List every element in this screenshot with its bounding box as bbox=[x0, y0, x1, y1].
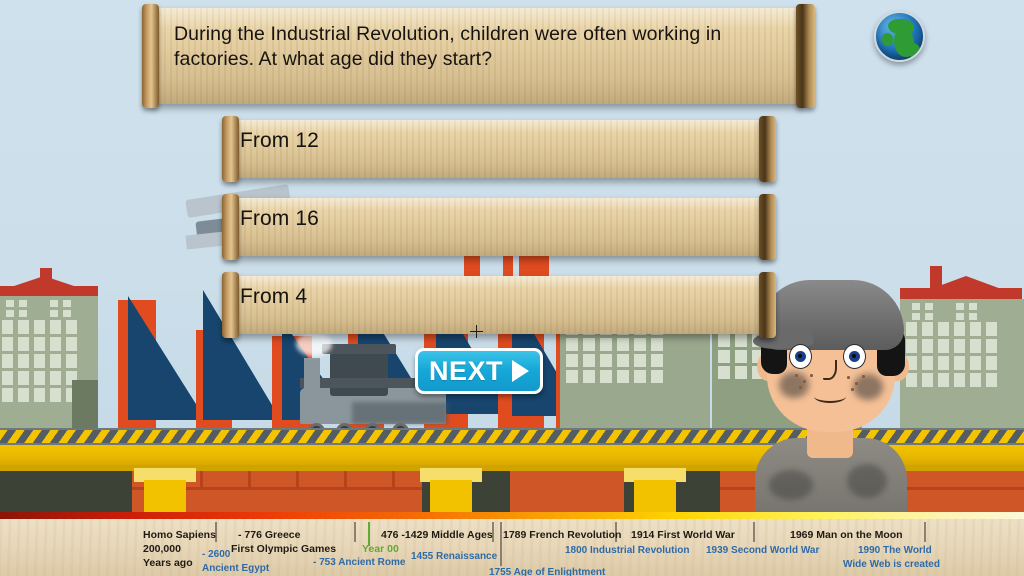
timeline-entry: 1939 Second World War bbox=[706, 545, 819, 556]
next-button[interactable]: NEXT bbox=[415, 348, 543, 394]
locomotive-shadow bbox=[352, 402, 448, 424]
house-attic-windows bbox=[6, 300, 27, 317]
scroll-cap-right bbox=[796, 4, 815, 108]
timeline-entry: 1755 Age of Enlightment bbox=[489, 567, 605, 576]
timeline-gradient-bar bbox=[0, 512, 1024, 519]
chimney bbox=[930, 266, 942, 288]
history-timeline: Homo Sapiens 200,000 Years ago - 2600 An… bbox=[0, 512, 1024, 576]
under-bridge-dark bbox=[0, 471, 132, 512]
answer-label: From 16 bbox=[240, 206, 319, 233]
answer-option-1[interactable]: From 12 bbox=[232, 120, 768, 178]
locomotive-stack bbox=[304, 358, 320, 390]
bridge-pillar bbox=[634, 480, 676, 512]
scroll-cap-left bbox=[222, 116, 239, 182]
shirt-smudge bbox=[769, 470, 813, 500]
timeline-tick bbox=[354, 522, 356, 542]
timeline-entry: 1914 First World War bbox=[631, 529, 735, 541]
timeline-entry: 200,000 bbox=[143, 543, 181, 555]
play-triangle-icon bbox=[512, 360, 529, 382]
factory-sawtooth-roof bbox=[128, 296, 206, 420]
house-attic-windows bbox=[956, 303, 977, 320]
scroll-cap-right bbox=[759, 272, 776, 338]
scroll-cap-left bbox=[142, 4, 159, 108]
under-bridge-brick bbox=[510, 471, 624, 512]
soot-smudge bbox=[779, 372, 809, 398]
timeline-tick bbox=[753, 522, 755, 542]
scroll-cap-left bbox=[222, 272, 239, 338]
timeline-entry: 1969 Man on the Moon bbox=[790, 529, 903, 541]
timeline-entry: Ancient Egypt bbox=[202, 563, 269, 574]
scroll-cap-right bbox=[759, 194, 776, 260]
locomotive-cab bbox=[330, 352, 388, 396]
question-scroll: During the Industrial Revolution, childr… bbox=[152, 8, 804, 104]
character-pupil bbox=[795, 351, 806, 362]
timeline-entry: - 753 Ancient Rome bbox=[313, 557, 405, 568]
scroll-cap-right bbox=[759, 116, 776, 182]
timeline-tick bbox=[500, 522, 502, 566]
house-attic-windows bbox=[50, 300, 71, 317]
question-text: During the Industrial Revolution, childr… bbox=[174, 22, 770, 72]
timeline-entry: First Olympic Games bbox=[231, 543, 336, 555]
bridge-pillar bbox=[144, 480, 186, 512]
locomotive-smoke bbox=[296, 332, 332, 356]
globe-icon[interactable] bbox=[874, 11, 925, 62]
timeline-entry: Wide Web is created bbox=[843, 559, 940, 570]
chimney bbox=[40, 268, 52, 288]
soot-smudge bbox=[853, 374, 883, 400]
bridge-pillar bbox=[430, 480, 472, 512]
shirt-smudge bbox=[847, 464, 887, 498]
timeline-tick bbox=[924, 522, 926, 542]
timeline-entry: 1455 Renaissance bbox=[411, 551, 497, 562]
locomotive-cab-roof bbox=[322, 344, 396, 354]
timeline-entry: Years ago bbox=[143, 557, 193, 569]
next-button-label: NEXT bbox=[429, 356, 503, 387]
brick-mortar-line bbox=[344, 471, 347, 487]
answer-label: From 12 bbox=[240, 128, 319, 155]
timeline-entry-year-zero: Year 00 bbox=[362, 543, 399, 555]
timeline-entry: 1789 French Revolution bbox=[503, 529, 621, 541]
answer-option-3[interactable]: From 4 bbox=[232, 276, 768, 334]
timeline-entry: 1800 Industrial Revolution bbox=[565, 545, 689, 556]
timeline-entry: 1990 The World bbox=[858, 545, 932, 556]
character-pupil bbox=[849, 351, 860, 362]
brick-mortar-line bbox=[200, 471, 203, 487]
answer-option-2[interactable]: From 16 bbox=[232, 198, 768, 256]
timeline-entry: Homo Sapiens bbox=[143, 529, 216, 541]
timeline-entry: - 2600 bbox=[202, 549, 230, 560]
brick-mortar-line bbox=[248, 471, 251, 487]
house-windows bbox=[2, 320, 77, 402]
scroll-cap-left bbox=[222, 194, 239, 260]
character-mouth bbox=[814, 390, 846, 403]
game-stage: During the Industrial Revolution, childr… bbox=[0, 0, 1024, 576]
timeline-entry: - 776 Greece bbox=[238, 529, 300, 541]
brick-mortar-line bbox=[392, 471, 395, 487]
timeline-entry: 476 -1429 Middle Ages bbox=[381, 529, 493, 541]
answer-label: From 4 bbox=[240, 284, 307, 311]
brick-mortar-line bbox=[296, 471, 299, 487]
